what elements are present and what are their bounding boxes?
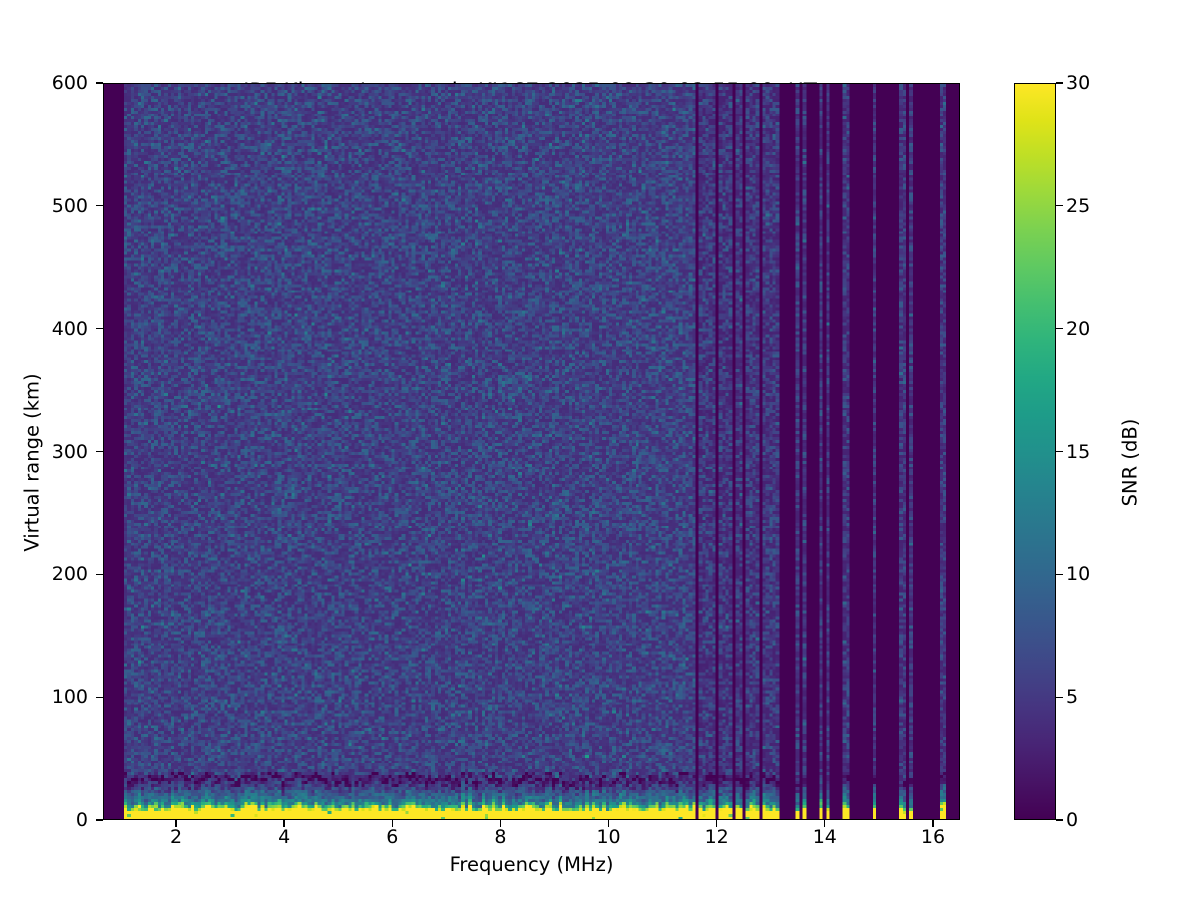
colorbar-tick-label: 15 — [1066, 441, 1090, 463]
x-tick-label: 10 — [596, 826, 620, 848]
y-tick-mark — [96, 82, 103, 83]
colorbar-tick-label: 20 — [1066, 318, 1090, 340]
colorbar-tick-mark — [1056, 328, 1063, 329]
y-tick-label: 100 — [52, 686, 88, 708]
colorbar-tick-mark — [1056, 697, 1063, 698]
colorbar-label: SNR (dB) — [1119, 353, 1142, 573]
y-tick-label: 400 — [52, 318, 88, 340]
colorbar-tick-label: 10 — [1066, 563, 1090, 585]
colorbar-tick-mark — [1056, 82, 1063, 83]
y-tick-label: 600 — [52, 72, 88, 94]
y-tick-mark — [96, 451, 103, 452]
ionogram-heatmap — [104, 84, 959, 819]
x-tick-label: 12 — [705, 826, 729, 848]
colorbar-tick-mark — [1056, 205, 1063, 206]
colorbar-gradient — [1015, 84, 1055, 819]
x-tick-label: 4 — [278, 826, 290, 848]
ionogram-figure: IRF Kiruna Ionosonde KI167 2025-09-30 02… — [0, 0, 1200, 900]
x-tick-label: 8 — [494, 826, 506, 848]
x-tick-label: 6 — [386, 826, 398, 848]
colorbar-tick-mark — [1056, 819, 1063, 820]
colorbar-tick-label: 0 — [1066, 809, 1078, 831]
y-tick-mark — [96, 819, 103, 820]
y-axis-label: Virtual range (km) — [21, 353, 44, 573]
y-tick-label: 500 — [52, 195, 88, 217]
y-tick-mark — [96, 205, 103, 206]
x-tick-label: 16 — [921, 826, 945, 848]
y-tick-mark — [96, 328, 103, 329]
colorbar — [1014, 83, 1056, 820]
colorbar-tick-label: 25 — [1066, 195, 1090, 217]
colorbar-tick-mark — [1056, 574, 1063, 575]
y-tick-mark — [96, 574, 103, 575]
colorbar-tick-label: 5 — [1066, 686, 1078, 708]
y-tick-label: 200 — [52, 563, 88, 585]
colorbar-tick-mark — [1056, 451, 1063, 452]
x-axis-label: Frequency (MHz) — [103, 853, 960, 876]
x-tick-label: 2 — [170, 826, 182, 848]
colorbar-tick-label: 30 — [1066, 72, 1090, 94]
y-tick-label: 300 — [52, 441, 88, 463]
y-tick-label: 0 — [76, 809, 88, 831]
y-tick-mark — [96, 697, 103, 698]
heatmap-axes — [103, 83, 960, 820]
x-tick-label: 14 — [813, 826, 837, 848]
